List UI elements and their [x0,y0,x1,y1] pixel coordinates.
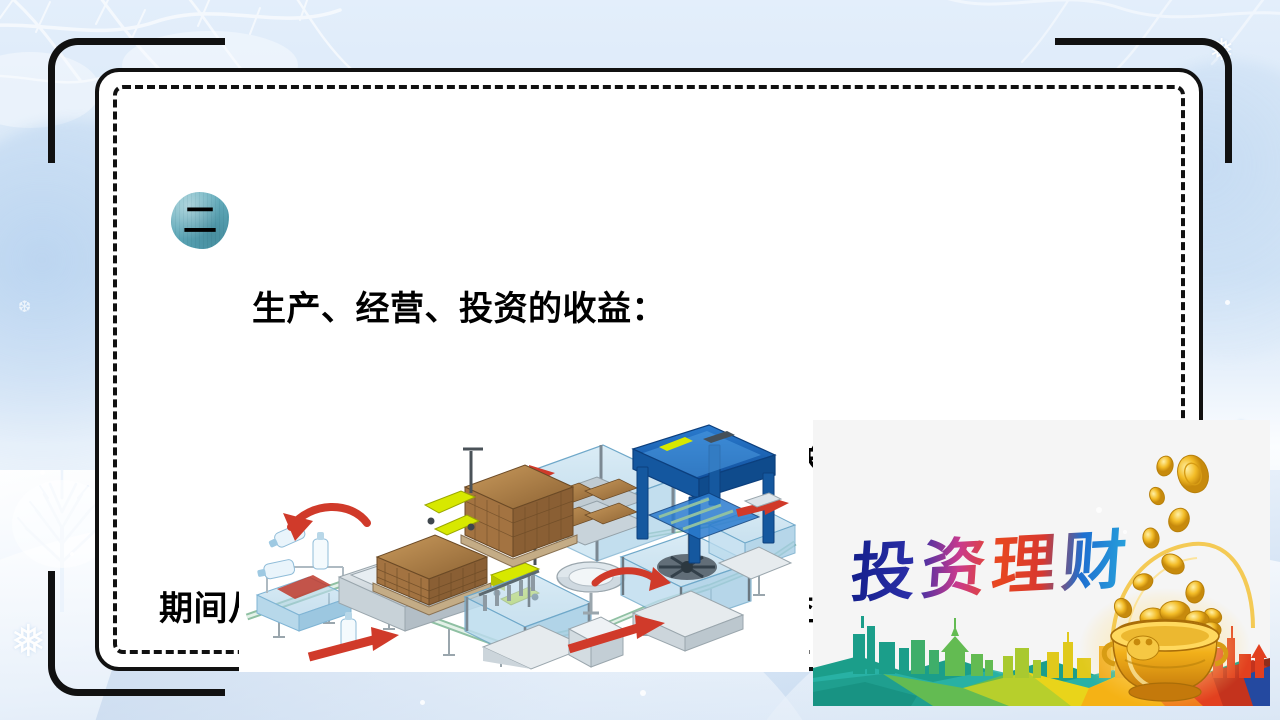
snowflake-icon: ❅ [10,620,47,664]
snow-speck [1225,300,1230,305]
sparkle [1123,530,1127,534]
panel-content: 二 生产、经营、投资的收益： 指夫或妻一方或者夫妻双方在婚姻关系存续 期间从事生… [99,72,1199,667]
poster-title-calligraphy: 投资理财 [848,523,1135,612]
rotary-capper-head [657,554,717,580]
production-line-illustration [239,417,809,672]
red-flow-arrow-1 [283,507,367,541]
body-line-1: 生产、经营、投资的收益： [159,284,1144,334]
bullet-number-label: 二 [183,204,217,238]
poster-title-text: 投资理财 [848,523,1135,612]
investment-poster-image: 投资理财 [813,420,1270,706]
investment-poster-illustration: 投资理财 [813,420,1270,706]
content-panel: 二 生产、经营、投资的收益： 指夫或妻一方或者夫妻双方在婚姻关系存续 期间从事生… [95,68,1203,671]
snow-speck [70,552,74,556]
slide-canvas: ❅ ❆ ❅ ❆ ❅ ❆ 二 生产、经营、投资的收益： 指夫或妻一方或者夫妻双方在… [0,0,1280,720]
sparkle [1096,507,1102,513]
snow-speck [40,470,45,475]
snowflake-icon: ❆ [18,300,31,316]
snowflake-icon: ❅ [1209,36,1234,66]
golden-toad [1127,636,1159,660]
production-line-image [239,417,809,672]
